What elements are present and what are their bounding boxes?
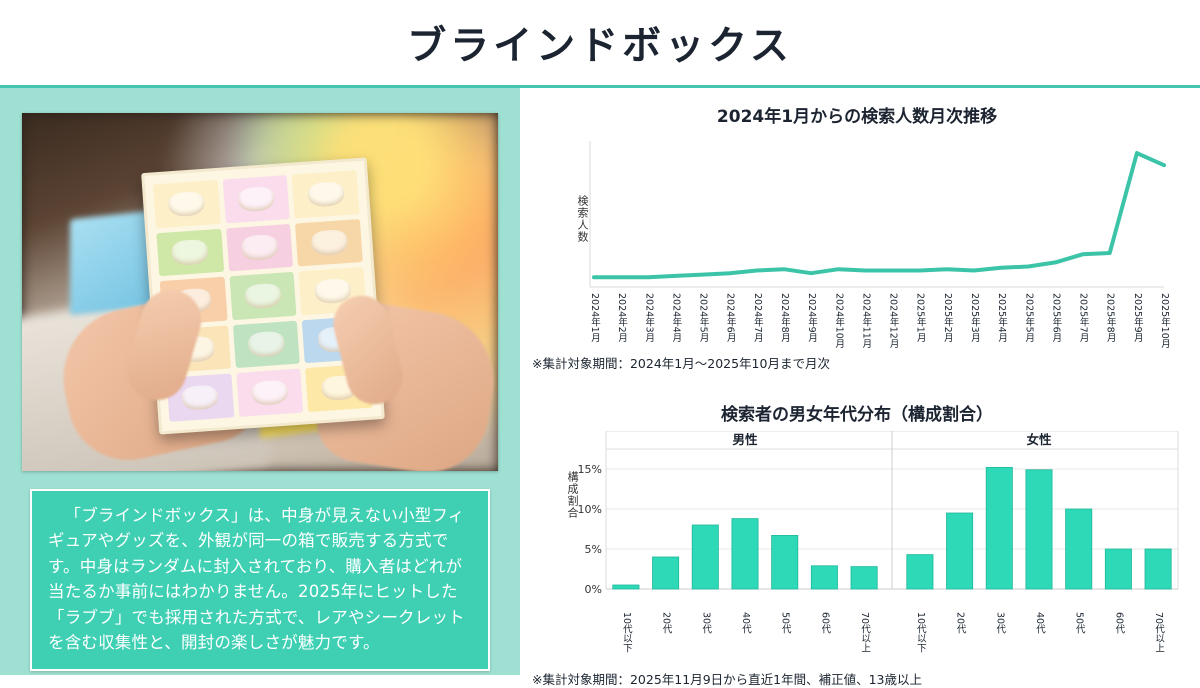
line-chart-x-tick: 2025年4月: [994, 293, 1008, 342]
line-chart-x-tick: 2025年6月: [1048, 293, 1062, 342]
bar-chart-x-tick: 10代以下: [913, 612, 927, 653]
bar: [1026, 470, 1052, 589]
line-plot-area: 検索人数: [568, 141, 1186, 291]
bar-chart-x-tick: 60代: [817, 612, 831, 634]
package-cell: [236, 369, 304, 417]
line-chart-x-tick: 2025年1月: [913, 293, 927, 342]
line-chart-x-tick: 2024年6月: [723, 293, 737, 342]
line-chart-x-tick: 2024年4月: [668, 293, 682, 342]
line-chart-x-tick: 2025年2月: [940, 293, 954, 342]
package-cell: [153, 180, 221, 228]
bar-chart-x-tick: 30代: [992, 612, 1006, 634]
line-chart-x-tick: 2024年12月: [886, 293, 900, 348]
content-area: 「ブラインドボックス」は、中身が見えない小型フィギュアやグッズを、外観が同一の箱…: [0, 88, 1200, 675]
bar-chart-x-tick: 50代: [778, 612, 792, 634]
bar-chart-x-tick: 20代: [659, 612, 673, 634]
bar-chart-x-tick: 50代: [1072, 612, 1086, 634]
bar-plot-area: 構成割合 0%5%10%15%男性女性: [562, 431, 1186, 611]
bar-chart-y-tick: 0%: [585, 583, 602, 596]
bar: [613, 585, 639, 589]
bar: [947, 513, 973, 589]
bar: [732, 519, 758, 589]
bar-chart-x-tick-labels: 10代以下20代30代40代50代60代70代以上10代以下20代30代40代5…: [562, 611, 1186, 669]
line-chart-x-tick: 2025年7月: [1076, 293, 1090, 342]
bar-chart-y-tick: 5%: [585, 543, 602, 556]
bar-chart-x-tick: 70代以上: [857, 612, 871, 653]
bar-chart-x-tick: 60代: [1111, 612, 1125, 634]
bar-chart-x-tick: 10代以下: [619, 612, 633, 653]
bar-chart-panel-title: 女性: [1026, 432, 1052, 447]
bar: [692, 525, 718, 589]
line-chart-x-tick: 2024年3月: [641, 293, 655, 342]
line-chart-note: ※集計対象期間：2024年1月～2025年10月まで月次: [532, 353, 1186, 372]
line-chart-series: [594, 153, 1164, 277]
line-chart-x-tick: 2025年9月: [1130, 293, 1144, 342]
line-chart-svg: [568, 141, 1168, 291]
bar: [1105, 549, 1131, 589]
line-chart-x-tick: 2024年10月: [831, 293, 845, 348]
bar-chart-x-tick: 20代: [953, 612, 967, 634]
page-title: ブラインドボックス: [407, 15, 793, 71]
package-cell: [222, 175, 290, 223]
bar-chart-y-tick: 10%: [578, 503, 602, 516]
line-chart-x-tick-labels: 2024年1月2024年2月2024年3月2024年4月2024年5月2024年…: [568, 291, 1186, 353]
bar: [1066, 509, 1092, 589]
bar: [653, 557, 679, 589]
line-chart-x-tick: 2025年8月: [1103, 293, 1117, 342]
bar-chart: 検索者の男女年代分布（構成割合） 構成割合 0%5%10%15%男性女性 10代…: [528, 400, 1186, 688]
package-cell: [233, 320, 301, 368]
blind-box-photo: [22, 113, 498, 471]
line-chart-title: 2024年1月からの検索人数月次推移: [528, 102, 1186, 127]
package-cell: [295, 219, 363, 267]
line-chart-x-tick: 2024年1月: [587, 293, 601, 342]
bar: [1145, 549, 1171, 589]
line-chart-x-tick: 2024年2月: [614, 293, 628, 342]
line-chart-x-tick: 2024年5月: [696, 293, 710, 342]
line-chart-x-tick: 2025年3月: [967, 293, 981, 342]
package-cell: [226, 224, 294, 272]
package-cell: [229, 272, 297, 320]
line-chart-x-tick: 2024年11月: [858, 293, 872, 348]
left-mint-panel: 「ブラインドボックス」は、中身が見えない小型フィギュアやグッズを、外観が同一の箱…: [0, 88, 520, 675]
bar: [772, 535, 798, 589]
bar-chart-title: 検索者の男女年代分布（構成割合）: [528, 400, 1186, 425]
page-header: ブラインドボックス: [0, 0, 1200, 88]
bar-chart-x-tick: 40代: [1032, 612, 1046, 634]
line-chart-x-tick: 2024年7月: [750, 293, 764, 342]
line-chart-x-tick: 2024年8月: [777, 293, 791, 342]
package-cell: [292, 170, 360, 218]
bar-chart-note: ※集計対象期間：2025年11月9日から直近1年間、補正値、13歳以上: [532, 669, 1186, 688]
line-chart-x-tick: 2025年5月: [1021, 293, 1035, 342]
bar-chart-x-tick: 70代以上: [1151, 612, 1165, 653]
bar-chart-panel-title: 男性: [732, 432, 758, 447]
bar: [907, 555, 933, 589]
bar-chart-x-tick: 40代: [738, 612, 752, 634]
bar: [986, 467, 1012, 589]
bar: [811, 566, 837, 589]
bar-chart-y-axis-label: 構成割合: [564, 471, 580, 519]
package-cell: [156, 228, 224, 276]
bar-chart-x-tick: 30代: [698, 612, 712, 634]
description-box: 「ブラインドボックス」は、中身が見えない小型フィギュアやグッズを、外観が同一の箱…: [30, 489, 490, 671]
line-chart-y-axis-label: 検索人数: [574, 195, 590, 243]
line-chart-x-tick: 2024年9月: [804, 293, 818, 342]
line-chart: 2024年1月からの検索人数月次推移 検索人数 2024年1月2024年2月20…: [528, 102, 1186, 392]
bar: [851, 567, 877, 589]
line-chart-x-tick: 2025年10月: [1157, 293, 1171, 348]
bar-chart-svg: 0%5%10%15%男性女性: [562, 431, 1182, 611]
bar-chart-y-tick: 15%: [578, 463, 602, 476]
right-charts-panel: 2024年1月からの検索人数月次推移 検索人数 2024年1月2024年2月20…: [520, 88, 1200, 675]
